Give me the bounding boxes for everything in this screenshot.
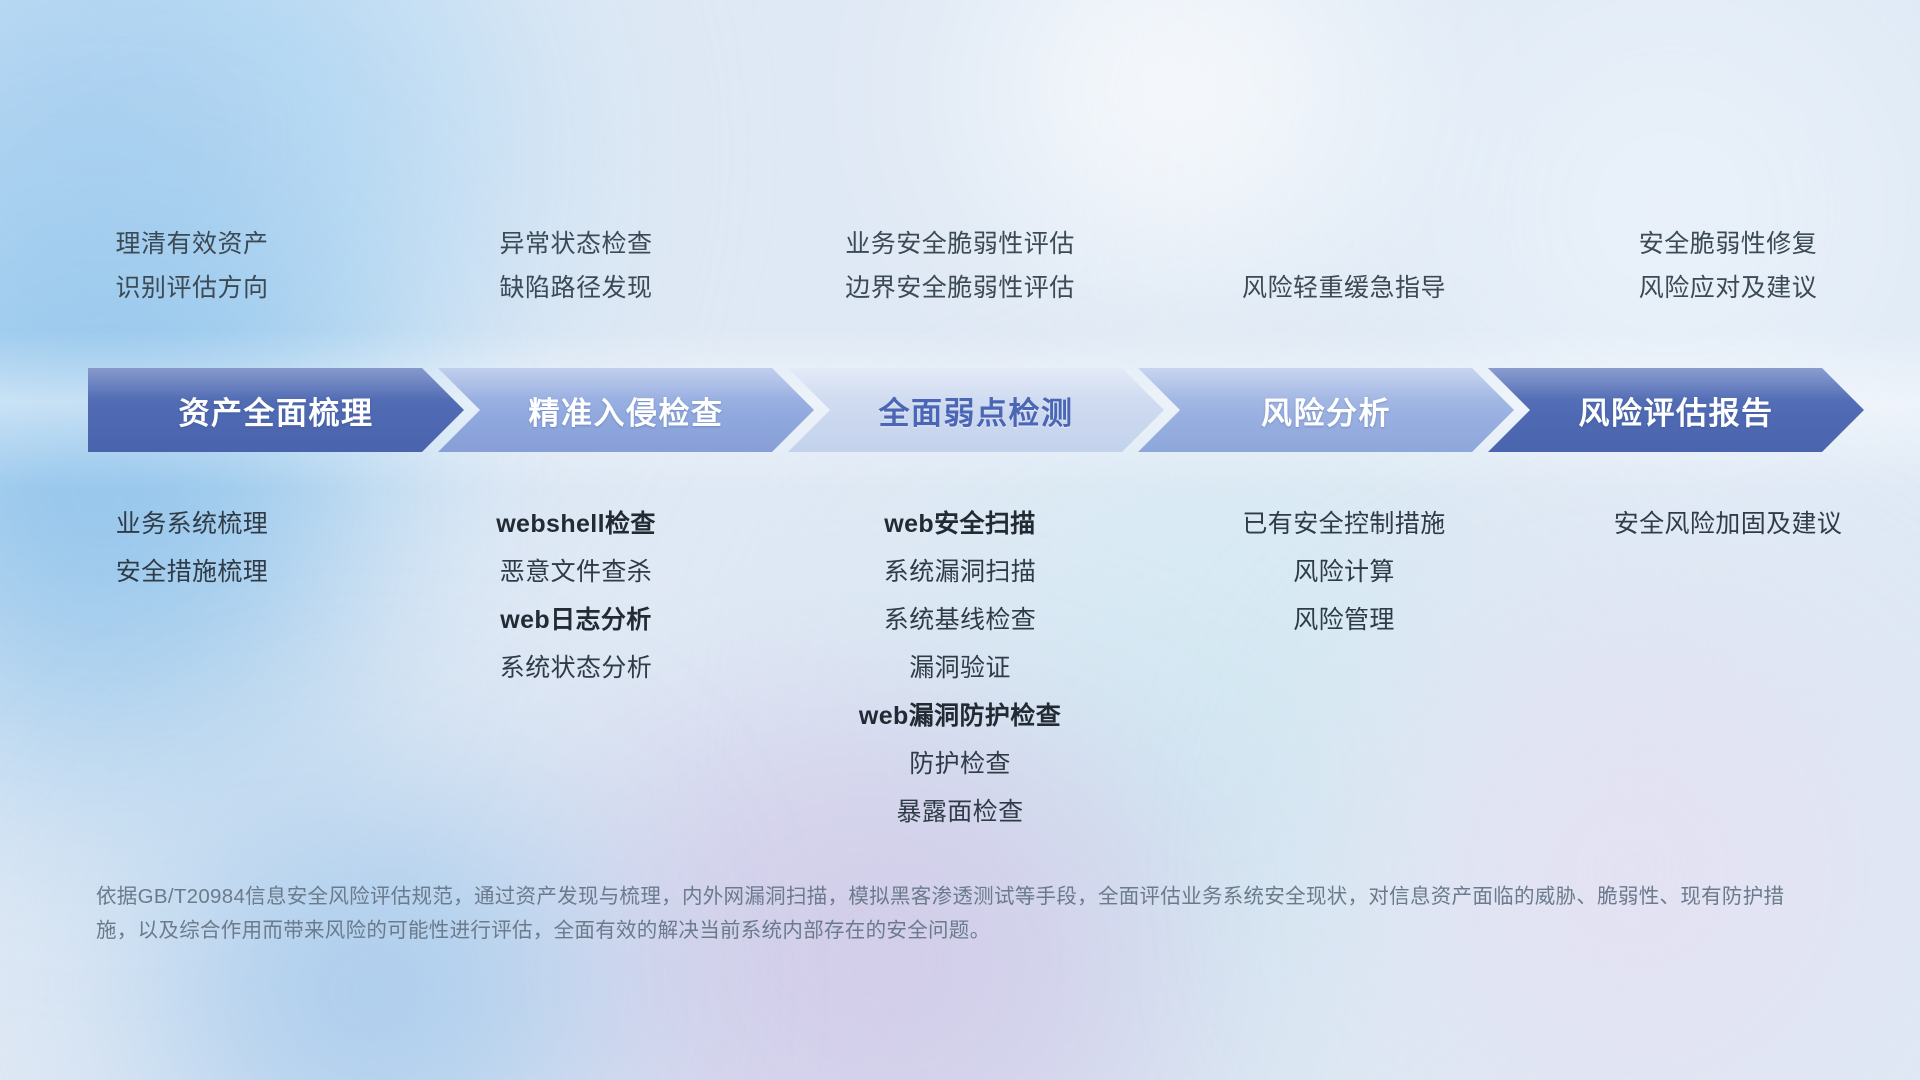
list-item: 防护检查 bbox=[909, 740, 1011, 788]
stage-arrow-5[interactable]: 风险评估报告 bbox=[1488, 368, 1864, 452]
bottom-list-stage-3: web安全扫描 系统漏洞扫描 系统基线检查 漏洞验证 web漏洞防护检查 防护检… bbox=[768, 500, 1152, 836]
bottom-list-stage-4: 已有安全控制措施 风险计算 风险管理 bbox=[1152, 500, 1536, 644]
bottom-lists-row: 业务系统梳理 安全措施梳理 webshell检查 恶意文件查杀 web日志分析 … bbox=[0, 500, 1920, 836]
top-caption: 识别评估方向 bbox=[115, 266, 268, 310]
list-item: web日志分析 bbox=[500, 596, 651, 644]
stage-arrow-3[interactable]: 全面弱点检测 bbox=[788, 368, 1164, 452]
stage-arrow-band: 资产全面梳理 精准入侵检查 全面弱点检测 风险分析 风险评估报告 bbox=[88, 368, 1864, 452]
stage-arrow-2[interactable]: 精准入侵检查 bbox=[438, 368, 814, 452]
top-caption: 风险应对及建议 bbox=[1639, 266, 1818, 310]
list-item: 漏洞验证 bbox=[909, 644, 1011, 692]
list-item: 恶意文件查杀 bbox=[500, 548, 652, 596]
list-item: 系统漏洞扫描 bbox=[884, 548, 1036, 596]
list-item: web漏洞防护检查 bbox=[859, 692, 1061, 740]
stage-arrow-4[interactable]: 风险分析 bbox=[1138, 368, 1514, 452]
top-caption: 缺陷路径发现 bbox=[499, 266, 652, 310]
stage-arrow-1[interactable]: 资产全面梳理 bbox=[88, 368, 464, 452]
stage-label: 精准入侵检查 bbox=[529, 388, 724, 433]
list-item: 安全风险加固及建议 bbox=[1614, 500, 1843, 548]
footer-description: 依据GB/T20984信息安全风险评估规范，通过资产发现与梳理，内外网漏洞扫描，… bbox=[96, 880, 1824, 948]
top-caption: 安全脆弱性修复 bbox=[1639, 222, 1818, 266]
list-item: 安全措施梳理 bbox=[116, 548, 268, 596]
top-caption: 异常状态检查 bbox=[499, 222, 652, 266]
list-item: 系统基线检查 bbox=[884, 596, 1036, 644]
list-item: 已有安全控制措施 bbox=[1242, 500, 1445, 548]
stage-label: 风险评估报告 bbox=[1579, 388, 1774, 433]
top-captions-stage-1: 理清有效资产 识别评估方向 bbox=[0, 222, 384, 332]
top-caption: 业务安全脆弱性评估 bbox=[845, 222, 1075, 266]
bottom-list-stage-1: 业务系统梳理 安全措施梳理 bbox=[0, 500, 384, 596]
list-item: 风险管理 bbox=[1293, 596, 1395, 644]
top-caption: 风险轻重缓急指导 bbox=[1242, 266, 1446, 310]
stage-label: 资产全面梳理 bbox=[179, 388, 374, 433]
bottom-list-stage-5: 安全风险加固及建议 bbox=[1536, 500, 1920, 548]
top-captions-row: 理清有效资产 识别评估方向 异常状态检查 缺陷路径发现 业务安全脆弱性评估 边界… bbox=[0, 222, 1920, 332]
list-item: webshell检查 bbox=[496, 500, 656, 548]
list-item: 业务系统梳理 bbox=[116, 500, 268, 548]
top-caption: 边界安全脆弱性评估 bbox=[845, 266, 1075, 310]
list-item: 系统状态分析 bbox=[500, 644, 652, 692]
top-captions-stage-2: 异常状态检查 缺陷路径发现 bbox=[384, 222, 768, 332]
process-diagram: 理清有效资产 识别评估方向 异常状态检查 缺陷路径发现 业务安全脆弱性评估 边界… bbox=[0, 0, 1920, 1080]
list-item: web安全扫描 bbox=[884, 500, 1035, 548]
stage-label: 全面弱点检测 bbox=[879, 388, 1074, 433]
top-captions-stage-5: 安全脆弱性修复 风险应对及建议 bbox=[1536, 222, 1920, 332]
list-item: 暴露面检查 bbox=[896, 788, 1023, 836]
list-item: 风险计算 bbox=[1293, 548, 1395, 596]
stage-label: 风险分析 bbox=[1261, 388, 1391, 433]
top-caption: 理清有效资产 bbox=[115, 222, 268, 266]
top-captions-stage-3: 业务安全脆弱性评估 边界安全脆弱性评估 bbox=[768, 222, 1152, 332]
top-captions-stage-4: 风险轻重缓急指导 bbox=[1152, 222, 1536, 332]
bottom-list-stage-2: webshell检查 恶意文件查杀 web日志分析 系统状态分析 bbox=[384, 500, 768, 692]
